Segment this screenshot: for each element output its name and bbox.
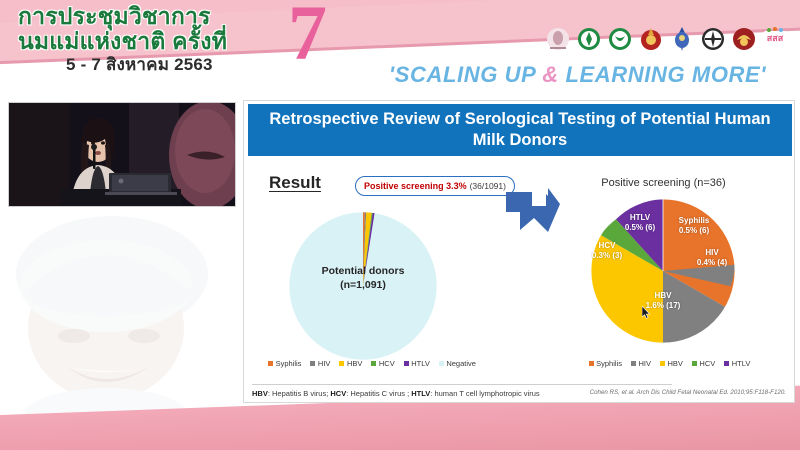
hiv-slice-value: 0.4% (4) — [688, 258, 736, 268]
legend-item-htlv-right: HTLV — [724, 359, 750, 368]
logo-thaihealth-icon: สสส — [762, 26, 788, 52]
legend-swatch-hcv — [371, 361, 376, 366]
speaker-video-frame — [9, 103, 236, 207]
positive-screening-title: Positive screening (n=36) — [556, 177, 771, 189]
logo-ministry-black-icon — [700, 26, 726, 52]
logo-green-health-1-icon — [576, 26, 602, 52]
conference-header: การประชุมวิชาการ นมแม่แห่งชาติ ครั้งที่ … — [0, 0, 800, 95]
legend-label-htlv: HTLV — [411, 359, 430, 368]
htlv-slice-label: HTLV 0.5% (6) — [615, 213, 665, 234]
legend-swatch-hbv-right — [660, 361, 665, 366]
hbv-slice-name: HBV — [637, 291, 689, 301]
footnote-hbv-key: HBV — [252, 389, 268, 398]
tagline-part-1: 'SCALING UP — [389, 62, 542, 87]
logo-green-health-2-icon — [607, 26, 633, 52]
logo-royal-crest-red-icon — [638, 26, 664, 52]
footnote-hbv-def: : Hepatitis B virus; — [268, 389, 331, 398]
legend-label-hcv-right: HCV — [699, 359, 715, 368]
legend-label-hiv-right: HIV — [638, 359, 651, 368]
blue-arrow-icon — [504, 186, 562, 234]
result-heading: Result — [269, 173, 321, 193]
sponsor-logos: สสส — [545, 26, 788, 52]
conference-date: 5 - 7 สิงหาคม 2563 — [66, 56, 318, 74]
legend-swatch-hiv-right — [631, 361, 636, 366]
hiv-slice-name: HIV — [688, 248, 736, 258]
footnote-hcv-def: : Hepatitis C virus ; — [346, 389, 411, 398]
edition-number: 7 — [288, 0, 327, 72]
legend-label-hcv: HCV — [379, 359, 395, 368]
legend-item-hiv-right: HIV — [631, 359, 651, 368]
legend-item-htlv: HTLV — [404, 359, 430, 368]
presentation-slide: Retrospective Review of Serological Test… — [243, 100, 795, 403]
potential-donors-label-line-2: (n=1,091) — [288, 278, 438, 292]
syphilis-slice-name: Syphilis — [668, 216, 720, 226]
callout-percent-text: Positive screening 3.3% — [364, 181, 467, 191]
syphilis-slice-value: 0.5% (6) — [668, 226, 720, 236]
source-citation: Cohen RS, et al. Arch Dis Child Fetal Ne… — [561, 389, 786, 396]
legend-label-hbv-right: HBV — [667, 359, 682, 368]
positive-screening-callout: Positive screening 3.3% (36/1091) — [355, 176, 515, 196]
syphilis-slice-label: Syphilis 0.5% (6) — [668, 216, 720, 237]
legend-label-syphilis-right: Syphilis — [596, 359, 622, 368]
tagline-ampersand: & — [542, 62, 559, 87]
footnote-htlv-key: HTLV — [411, 389, 430, 398]
legend-swatch-hiv — [310, 361, 315, 366]
legend-label-hbv: HBV — [347, 359, 362, 368]
legend-swatch-hcv-right — [692, 361, 697, 366]
hcv-slice-name: HCV — [584, 241, 630, 251]
htlv-slice-name: HTLV — [615, 213, 665, 223]
logo-foundation-icon — [545, 26, 571, 52]
legend-swatch-htlv-right — [724, 361, 729, 366]
slide-title: Retrospective Review of Serological Test… — [248, 104, 792, 156]
legend-item-syphilis: Syphilis — [268, 359, 301, 368]
legend-item-hbv: HBV — [339, 359, 362, 368]
presentation-screen: การประชุมวิชาการ นมแม่แห่งชาติ ครั้งที่ … — [0, 0, 800, 450]
potential-donors-label: Potential donors (n=1,091) — [288, 264, 438, 292]
legend-item-hcv-right: HCV — [692, 359, 715, 368]
legend-swatch-negative — [439, 361, 444, 366]
legend-label-negative: Negative — [446, 359, 476, 368]
thai-title-line-2: นมแม่แห่งชาติ ครั้งที่ — [18, 29, 318, 54]
conference-thai-title: การประชุมวิชาการ นมแม่แห่งชาติ ครั้งที่ … — [18, 4, 318, 74]
callout-fraction-text: (36/1091) — [470, 181, 506, 191]
legend-swatch-htlv — [404, 361, 409, 366]
footnote-htlv-def: : human T cell lymphotropic virus — [430, 389, 539, 398]
legend-swatch-syphilis-right — [589, 361, 594, 366]
tagline-part-2: LEARNING MORE' — [559, 62, 766, 87]
conference-tagline: 'SCALING UP & LEARNING MORE' — [360, 62, 795, 88]
speaker-video-inset[interactable] — [8, 102, 236, 207]
thai-title-line-1: การประชุมวิชาการ — [18, 4, 318, 29]
mouse-cursor-icon — [642, 306, 651, 319]
baby-watermark-image — [0, 196, 244, 426]
legend-item-negative: Negative — [439, 359, 476, 368]
legend-label-htlv-right: HTLV — [732, 359, 751, 368]
hcv-slice-label: HCV 0.3% (3) — [584, 241, 630, 262]
legend-item-hcv: HCV — [371, 359, 394, 368]
legend-item-syphilis-right: Syphilis — [589, 359, 622, 368]
hcv-slice-value: 0.3% (3) — [584, 251, 630, 261]
legend-label-syphilis: Syphilis — [276, 359, 302, 368]
legend-item-hbv-right: HBV — [660, 359, 683, 368]
logo-garuda-red-icon — [731, 26, 757, 52]
logo-royal-crest-blue-icon — [669, 26, 695, 52]
potential-donors-label-line-1: Potential donors — [288, 264, 438, 278]
legend-potential-donors: Syphilis HIV HBV HCV HTLV Negative — [282, 359, 462, 368]
htlv-slice-value: 0.5% (6) — [615, 223, 665, 233]
legend-swatch-hbv — [339, 361, 344, 366]
svg-text:สสส: สสส — [767, 33, 784, 43]
hiv-slice-label: HIV 0.4% (4) — [688, 248, 736, 269]
legend-label-hiv: HIV — [318, 359, 331, 368]
legend-swatch-syphilis — [268, 361, 273, 366]
legend-positive-screening: Syphilis HIV HBV HCV HTLV — [562, 359, 777, 368]
footnote-hcv-key: HCV — [330, 389, 346, 398]
legend-item-hiv: HIV — [310, 359, 330, 368]
